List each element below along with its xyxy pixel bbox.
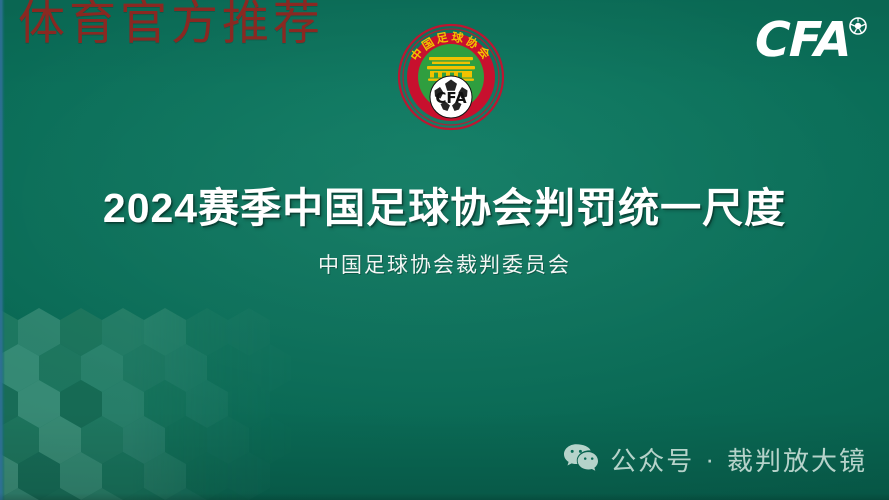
svg-text:CFA: CFA <box>435 89 467 107</box>
wechat-icon <box>563 442 599 477</box>
footer-credit: 公众号 · 裁判放大镜 <box>563 441 867 478</box>
soccer-ball-icon <box>849 17 867 40</box>
slide-root: 体育官方推荐 中国足球协会 <box>0 0 889 500</box>
cfa-wordmark: CFA <box>755 16 867 68</box>
bottom-edge-band <box>0 493 889 500</box>
hexagon-pattern <box>0 308 366 500</box>
footer-label: 公众号 <box>610 441 694 478</box>
footer-separator: · <box>705 444 716 475</box>
page-title: 2024赛季中国足球协会判罚统一尺度 <box>0 174 889 234</box>
watermark-text: 体育官方推荐 <box>18 0 324 54</box>
cfa-wordmark-text: CFA <box>754 16 852 64</box>
cfa-crest: 中国足球协会 <box>397 17 506 133</box>
page-subtitle: 中国足球协会裁判委员会 <box>0 249 889 279</box>
footer-account-name: 裁判放大镜 <box>727 441 867 478</box>
